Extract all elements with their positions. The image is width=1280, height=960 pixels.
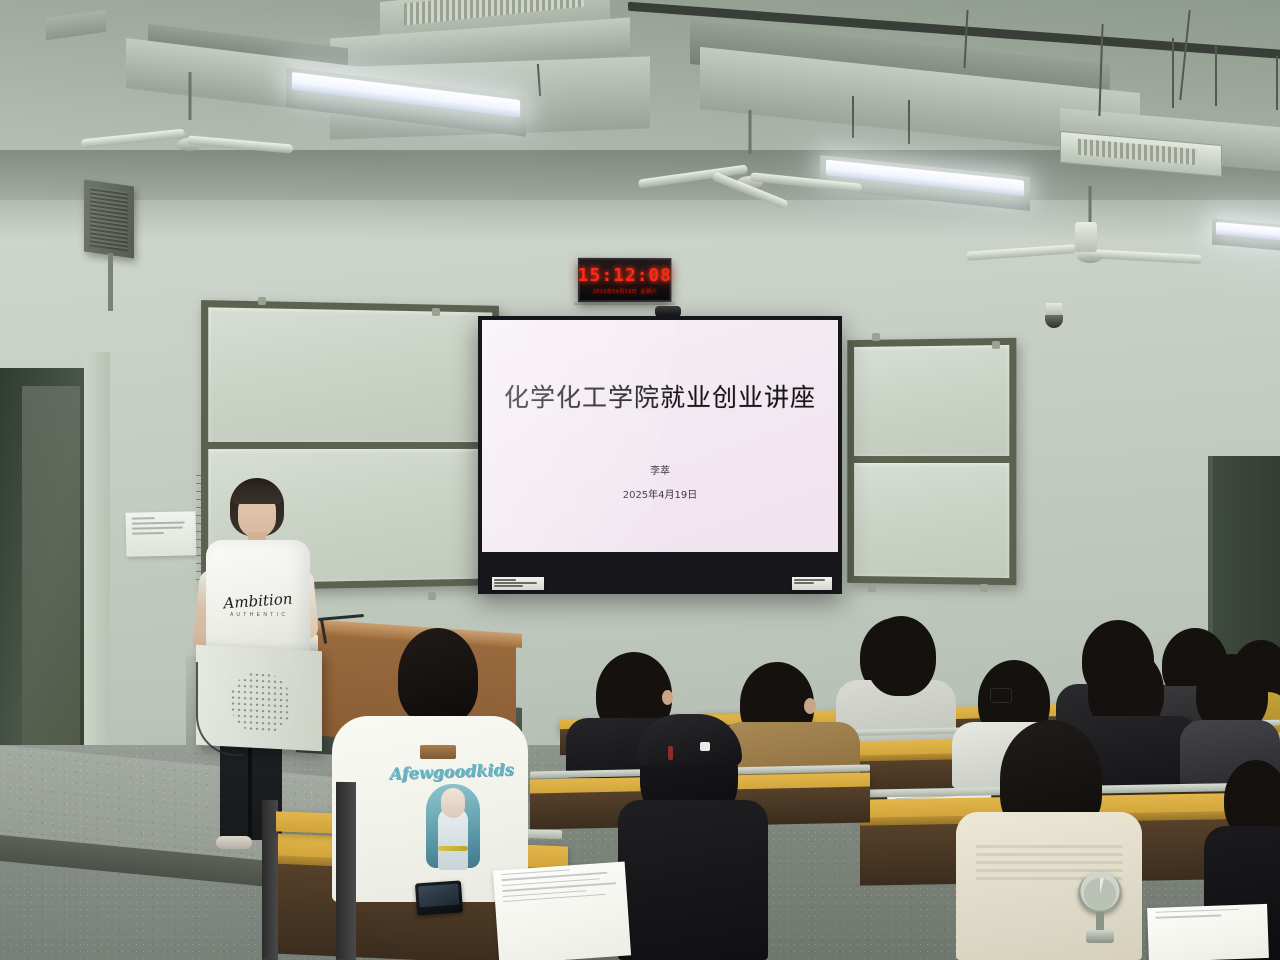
board-clip-2 — [432, 308, 440, 316]
pipe-hanger-4 — [1215, 46, 1217, 106]
pipe-hanger-3 — [1172, 38, 1174, 108]
clock-time: 15:12:08 — [578, 265, 672, 286]
glasses-icon — [990, 688, 1012, 703]
pendant-lamp — [1075, 222, 1097, 252]
presenter-shirt-subtext: A U T H E N T I C — [206, 612, 310, 618]
led-wall-clock: 15:12:08 2025年04月19日 星期六 — [578, 258, 671, 302]
lecture-hall-photo: 15:12:08 2025年04月19日 星期六 化学化工学院就业创业讲座 李萃… — [0, 0, 1280, 960]
board-clip-1 — [258, 297, 266, 305]
jacket-graphic: Afewgoodkids — [396, 762, 508, 882]
pipe-hanger-5 — [1276, 56, 1278, 110]
cap-logo — [700, 742, 710, 751]
slide: 化学化工学院就业创业讲座 李萃 2025年4月19日 — [482, 320, 838, 552]
cap-tag — [668, 746, 673, 760]
smartphone[interactable] — [415, 880, 463, 915]
presenter-shirt-text: Ambition — [205, 588, 310, 613]
desk-fan[interactable] — [1078, 872, 1122, 944]
madonna-face — [441, 788, 465, 818]
ceiling-fan-1 — [650, 152, 850, 212]
board-clip-8 — [980, 584, 988, 592]
clock-date: 2025年04月19日 星期六 — [593, 288, 657, 295]
board-clip-4 — [428, 592, 436, 600]
display-label-right — [792, 577, 832, 590]
light-hanger-2 — [908, 100, 910, 144]
presenter-hair-front — [232, 484, 282, 504]
presenter-shirt: Ambition A U T H E N T I C — [206, 540, 310, 658]
dome-camera-icon — [1043, 303, 1065, 333]
slide-date: 2025年4月19日 — [623, 486, 698, 501]
board-clip-5 — [872, 333, 880, 341]
whiteboard-right-panel-top — [854, 345, 1009, 456]
seat-back-front — [336, 782, 356, 960]
slide-glare — [482, 320, 688, 552]
paper-front-desk — [493, 862, 631, 960]
whiteboard-right-panel-bottom — [854, 463, 1009, 578]
madonna-sash — [438, 846, 468, 851]
door-left[interactable] — [0, 368, 94, 770]
ceiling-fan-2 — [95, 118, 285, 174]
presentation-display[interactable]: 化学化工学院就业创业讲座 李萃 2025年4月19日 — [478, 316, 842, 594]
wall-notice — [126, 511, 197, 556]
jacket-collar-tag — [420, 745, 456, 759]
board-clip-6 — [992, 341, 1000, 349]
whiteboard-right-divider — [854, 456, 1009, 463]
speaker-bracket — [108, 253, 113, 311]
light-hanger-1 — [852, 96, 854, 138]
door-left-jamb — [84, 352, 110, 772]
wall-speaker — [84, 179, 134, 258]
display-label-left — [492, 577, 544, 590]
board-clip-7 — [868, 584, 876, 592]
paper-row1-right — [1147, 904, 1269, 960]
whiteboard-left-panel-top — [208, 307, 492, 442]
slide-presenter: 李萃 — [650, 462, 670, 477]
presenter-shoe — [216, 836, 252, 849]
slide-title: 化学化工学院就业创业讲座 — [504, 378, 816, 414]
whiteboard-right[interactable] — [847, 338, 1016, 585]
